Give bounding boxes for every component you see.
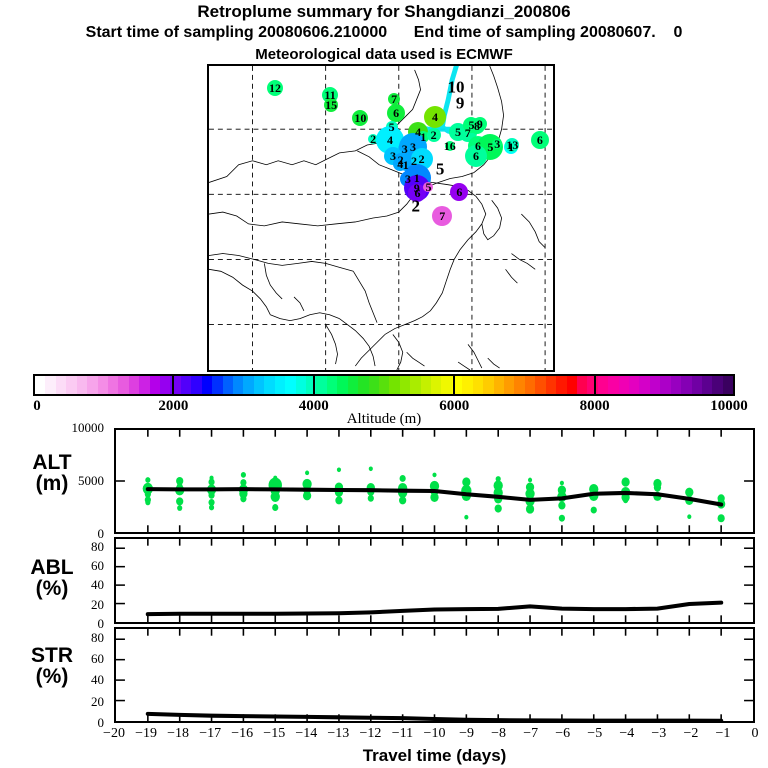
colorbar-swatch [410,376,420,394]
colorbar-swatch [702,376,712,394]
y-tick-label: 10000 [8,420,104,436]
scatter-point [560,481,564,486]
colorbar-swatch [77,376,87,394]
map-marker-label: 2 [411,155,417,167]
x-tick-label: −9 [459,726,474,742]
map-marker-label: 2 [419,153,425,165]
colorbar-swatch [441,376,451,394]
scatter-point [208,479,214,486]
colorbar-swatch [337,376,347,394]
scatter-point [303,491,311,500]
colorbar-swatch [504,376,514,394]
colorbar-swatch [389,376,399,394]
y-tick-label: 40 [8,577,104,593]
map-coastlines [209,66,553,370]
x-tick-label: −17 [199,726,221,742]
colorbar-swatch [150,376,160,394]
x-tick-label: −16 [231,726,253,742]
colorbar-swatch [660,376,670,394]
map-marker-label: 13 [506,139,518,151]
colorbar-swatch [243,376,253,394]
colorbar-swatch [56,376,66,394]
x-tick-label: −19 [135,726,157,742]
alt-chart[interactable] [114,428,755,534]
scatter-point [177,505,182,511]
colorbar-swatch [348,376,358,394]
scatter-point [654,484,661,492]
x-tick-label: 0 [752,726,759,742]
colorbar-swatch [400,376,410,394]
colorbar-swatch [629,376,639,394]
scatter-point [145,477,150,483]
colorbar-swatch [306,376,316,394]
x-axis-title: Travel time (days) [114,746,755,766]
map-marker-label: 12 [269,82,281,94]
map-marker-label: 6 [456,186,462,198]
scatter-point [399,496,406,504]
x-tick-label: −2 [683,726,698,742]
colorbar-swatch [639,376,649,394]
colorbar-swatch [139,376,149,394]
colorbar-swatch [264,376,274,394]
colorbar-swatch [316,376,326,394]
scatter-point [145,500,150,506]
scatter-point [685,488,693,497]
scatter-point [209,505,214,511]
x-tick-label: −14 [295,726,317,742]
str-chart[interactable] [114,627,755,723]
x-tick-label: −10 [424,726,446,742]
colorbar-swatch [681,376,691,394]
scatter-point [464,515,468,520]
colorbar-swatch [108,376,118,394]
map-marker-label: 5 [425,181,431,193]
x-tick-label: −5 [587,726,602,742]
map-marker-label: 2 [411,197,420,214]
y-tick-label: 60 [8,651,104,667]
colorbar-swatch [431,376,441,394]
scatter-point [623,497,628,503]
colorbar-swatch [35,376,45,394]
map-marker-label: 16 [444,140,456,152]
scatter-point [208,492,214,499]
colorbar-swatch [87,376,97,394]
colorbar-swatch [98,376,108,394]
colorbar-swatch [421,376,431,394]
colorbar-swatch [567,376,577,394]
x-tick-label: −8 [491,726,506,742]
scatter-point [337,467,341,472]
colorbar-separator [313,374,315,396]
abl-chart[interactable] [114,537,755,624]
y-tick-label: 80 [8,539,104,555]
map-marker-label: 6 [473,150,479,162]
map-marker-label: 6 [393,107,399,119]
scatter-point [272,504,278,511]
map-marker-label: 3 [390,150,396,162]
scatter-point [559,515,565,522]
scatter-point [240,495,246,502]
x-tick-label: −15 [263,726,285,742]
colorbar-swatch [723,376,733,394]
colorbar-separator [594,374,596,396]
y-tick-label: 60 [8,558,104,574]
map-marker-label: 1 [420,131,426,143]
colorbar-swatch [358,376,368,394]
scatter-point [591,507,597,514]
map-marker-label: 7 [439,210,445,222]
x-tick-label: −18 [167,726,189,742]
colorbar-swatch [546,376,556,394]
colorbar-title: Altitude (m) [0,411,768,428]
map-marker-label: 9 [456,95,465,112]
map-marker-label: 4 [387,134,393,146]
y-tick-label: 0 [8,715,104,731]
x-tick-label: −20 [103,726,125,742]
x-tick-label: −3 [651,726,666,742]
colorbar-swatch [577,376,587,394]
colorbar-swatch [712,376,722,394]
colorbar-swatch [327,376,337,394]
scatter-point [368,495,374,502]
y-tick-label: 40 [8,672,104,688]
colorbar-swatch [118,376,128,394]
map-marker-label: 2 [431,129,437,141]
scatter-point [558,501,565,509]
map-marker-label: 5 [389,121,395,133]
colorbar-swatch [462,376,472,394]
colorbar-swatch [66,376,76,394]
scatter-point [528,478,532,483]
map-marker-label: 5 [455,126,461,138]
colorbar-swatch [692,376,702,394]
colorbar-swatch [379,376,389,394]
x-tick-label: −12 [359,726,381,742]
x-tick-label: −13 [327,726,349,742]
map-marker-label: 3 [410,141,416,153]
colorbar-swatch [233,376,243,394]
page-title: Retroplume summary for Shangdianzi_20080… [0,2,768,22]
x-tick-label: −6 [555,726,570,742]
colorbar-swatch [535,376,545,394]
y-tick-label: 80 [8,630,104,646]
colorbar-swatch [285,376,295,394]
colorbar-separator [172,374,174,396]
colorbar-swatch [160,376,170,394]
colorbar-swatch [598,376,608,394]
colorbar-swatch [473,376,483,394]
colorbar-swatch [369,376,379,394]
colorbar-separator [453,374,455,396]
scatter-point [495,504,502,512]
map-marker-label: 4 [432,111,438,123]
scatter-point [369,466,373,471]
colorbar-swatch [45,376,55,394]
colorbar-swatch [223,376,233,394]
colorbar-swatch [129,376,139,394]
altitude-colorbar [33,374,735,396]
scatter-point [432,473,436,478]
trend-line [148,603,721,615]
y-tick-label: 5000 [8,473,104,489]
colorbar-swatch [202,376,212,394]
map-marker-label: 9 [477,118,483,130]
map-marker-label: 1 [403,159,409,171]
scatter-point [305,471,309,476]
meteorology-subtitle: Meteorological data used is ECMWF [0,46,768,63]
map-marker-label: 10 [354,112,366,124]
scatter-point [430,493,438,502]
x-tick-label: −4 [619,726,634,742]
map-marker-label: 2 [370,133,376,145]
map-marker-label: 15 [325,99,337,111]
scatter-point [621,477,629,486]
colorbar-swatch [494,376,504,394]
scatter-point [687,514,691,519]
scatter-point [335,496,342,504]
x-tick-label: −7 [523,726,538,742]
colorbar-swatch [483,376,493,394]
map-marker-label: 5 [436,161,445,178]
map-marker-label: 6 [537,134,543,146]
alt-label-line1: ALT [0,452,104,473]
y-tick-label: 20 [8,597,104,613]
colorbar-swatch [671,376,681,394]
colorbar-swatch [556,376,566,394]
colorbar-swatch [191,376,201,394]
sampling-time-subtitle: Start time of sampling 20080606.210000 E… [0,24,768,42]
colorbar-swatch [587,376,597,394]
colorbar-swatch [181,376,191,394]
scatter-point [271,492,280,502]
colorbar-swatch [254,376,264,394]
map-marker-label: 7 [391,93,397,105]
scatter-point [526,504,534,513]
x-tick-label: −11 [392,726,413,742]
scatter-point [241,472,246,478]
scatter-point [176,497,183,505]
colorbar-swatch [212,376,222,394]
retroplume-map[interactable]: 1211151076541094125758924331665311366324… [207,64,555,372]
map-marker-label: 3 [494,138,500,150]
colorbar-swatch [525,376,535,394]
x-tick-label: −1 [715,726,730,742]
colorbar-swatch [650,376,660,394]
scatter-point [718,514,725,522]
colorbar-swatch [608,376,618,394]
map-marker-label: 3 [405,173,411,185]
y-tick-label: 20 [8,694,104,710]
scatter-point [400,475,406,482]
colorbar-swatch [514,376,524,394]
colorbar-swatch [619,376,629,394]
colorbar-swatch [296,376,306,394]
map-marker-label: 5 [487,141,493,153]
colorbar-swatch [275,376,285,394]
